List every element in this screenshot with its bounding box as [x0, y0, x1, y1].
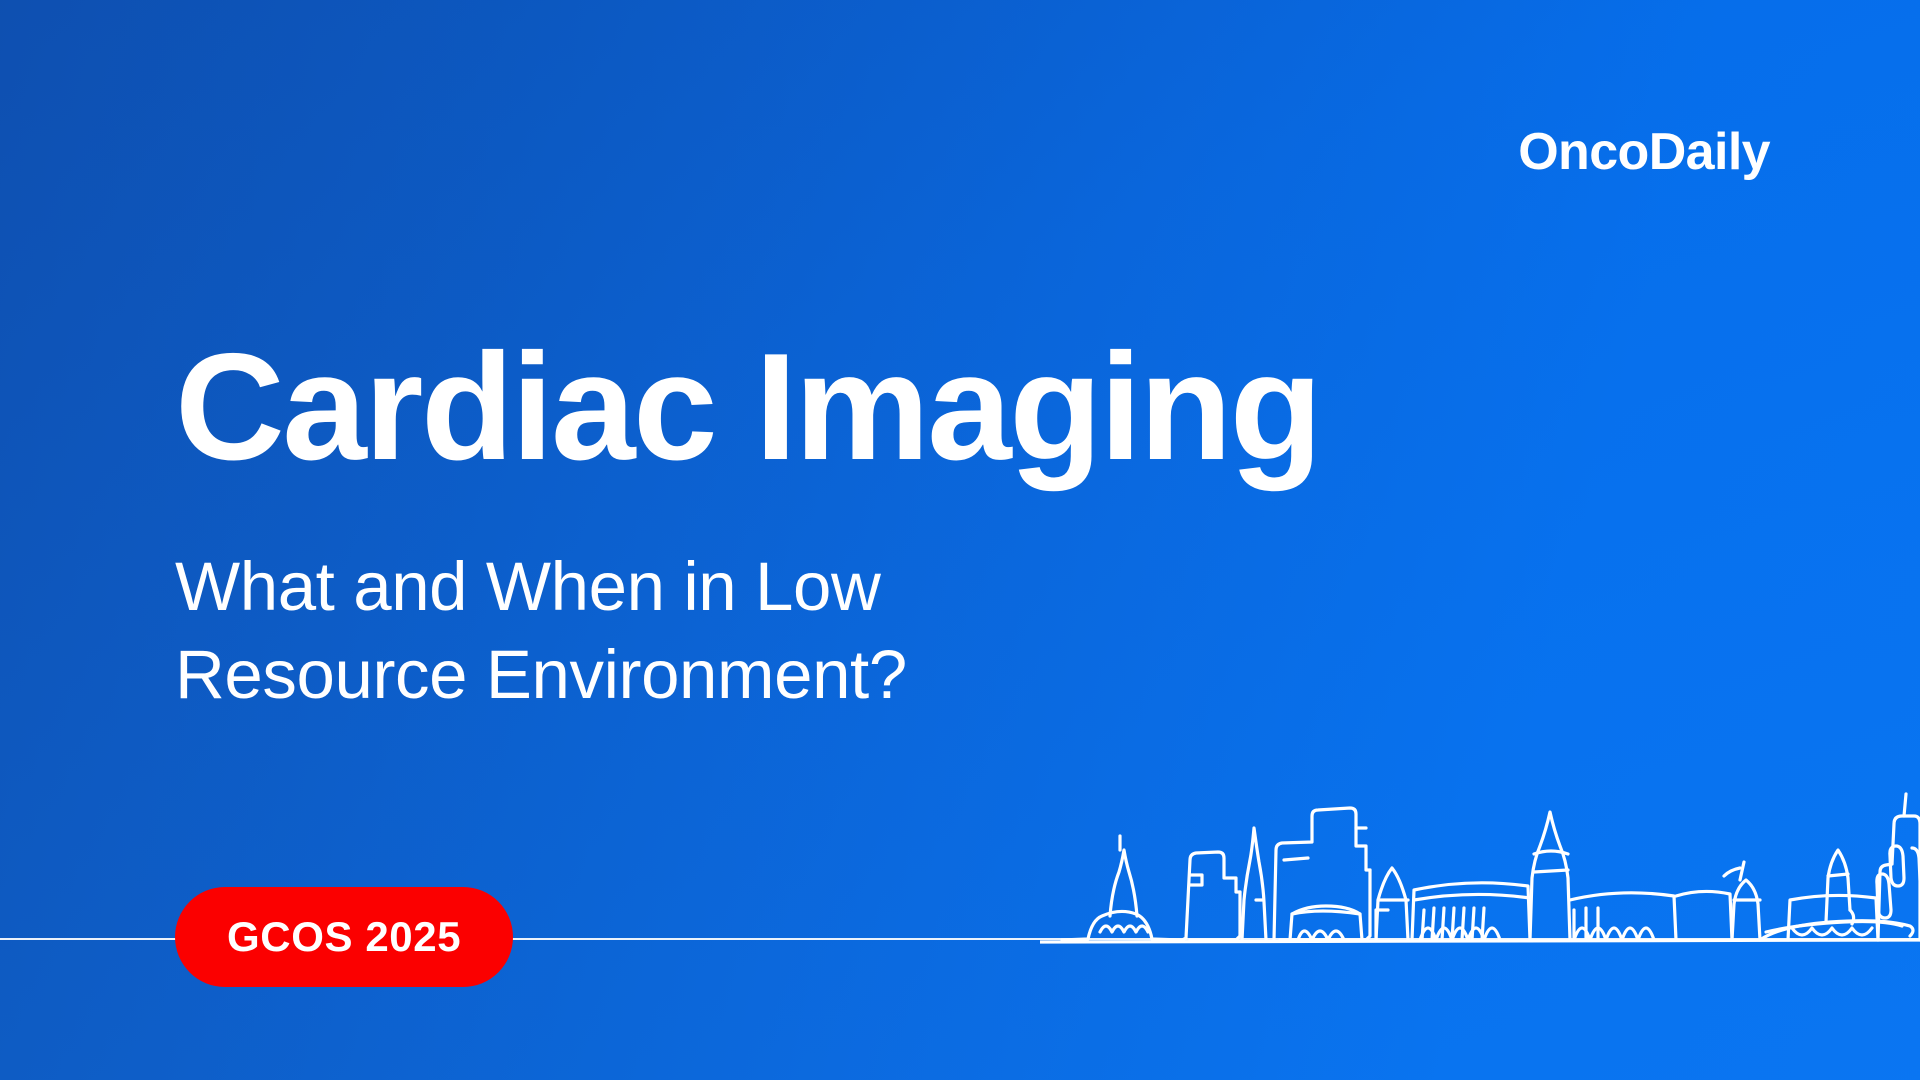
subtitle-line-1: What and When in Low: [175, 548, 880, 625]
page-subtitle: What and When in Low Resource Environmen…: [175, 543, 1055, 720]
page-title: Cardiac Imaging: [175, 330, 1355, 485]
city-skyline-icon: [1040, 750, 1920, 960]
subtitle-line-2: Resource Environment?: [175, 636, 907, 713]
status-badge[interactable]: GCOS 2025: [175, 887, 513, 987]
oncodaily-logo: OncoDaily: [1518, 126, 1770, 178]
presentation-slide: OncoDaily Cardiac Imaging What and When …: [0, 0, 1920, 1080]
headline-block: Cardiac Imaging What and When in Low Res…: [175, 330, 1355, 720]
